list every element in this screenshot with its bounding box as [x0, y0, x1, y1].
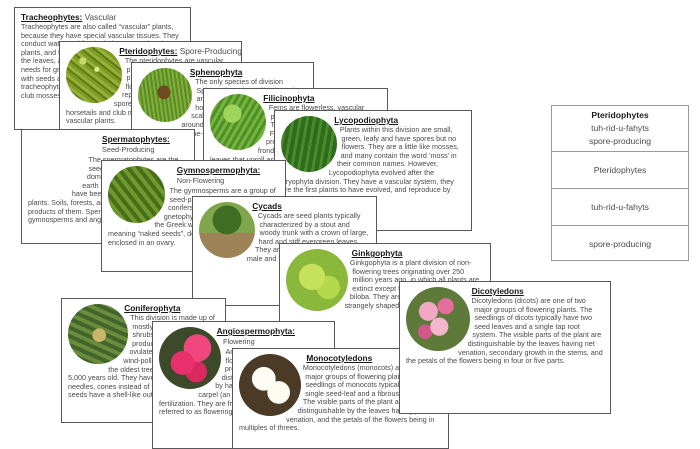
three-part-pronunciation-cell[interactable]: tuh-rid-u-fahyts — [552, 189, 688, 226]
plant-photo-seed-pod — [28, 135, 84, 191]
card-term: Lycopodiophyta — [334, 115, 398, 125]
card-term: Pteridophytes: — [119, 46, 177, 56]
card-term: Ginkgophyta — [352, 248, 403, 258]
plant-photo-lily — [239, 354, 301, 416]
plant-photo-blossoms — [406, 287, 470, 351]
card-title: Tracheophytes: Vascular — [21, 12, 185, 22]
plant-photo-roses — [159, 327, 221, 389]
plant-photo-conifer-cone — [68, 304, 128, 364]
card-term: Cycads — [252, 201, 282, 211]
card-term: Monocotyledons — [306, 353, 372, 363]
card-term: Tracheophytes: — [21, 12, 82, 22]
card-term: Gymnospermophyta: — [177, 165, 260, 175]
card-term: Angiospermophyta: — [217, 326, 295, 336]
plant-photo-moss — [66, 47, 122, 103]
plant-photo-ginkgo — [286, 249, 348, 311]
card-term: Sphenophyta — [190, 67, 243, 77]
plant-photo-fern — [210, 94, 266, 150]
three-part-definition-cell[interactable]: spore-producing — [552, 226, 688, 262]
plant-photo-club-moss — [281, 116, 337, 172]
card-sheet: Tracheophytes: Vascular Tracheophytes ar… — [0, 0, 700, 449]
card-term: Filicinophyta — [263, 93, 314, 103]
definition-strip-label: spore-producing — [589, 238, 651, 251]
card-term: Spermatophytes: — [102, 134, 170, 144]
pronunciation-label: tuh-rid-u-fahyts — [591, 122, 649, 135]
plant-photo-cycad — [199, 202, 255, 258]
three-part-header-cell: Pteridophytes tuh-rid-u-fahyts spore-pro… — [552, 106, 688, 152]
card-subtitle: Spore-Producing — [180, 46, 242, 56]
card-term: Dicotyledons — [472, 286, 524, 296]
card-body: Dicotyledons Dicotyledons (dicots) are o… — [400, 282, 610, 413]
card-subtitle: Vascular — [85, 12, 117, 22]
term-label: Pteridophytes — [591, 109, 648, 122]
three-part-card-pteridophytes[interactable]: Pteridophytes tuh-rid-u-fahyts spore-pro… — [551, 105, 689, 261]
term-strip-label: Pteridophytes — [594, 164, 647, 177]
card-term: Coniferophyta — [124, 303, 180, 313]
plant-photo-horsetail — [138, 68, 192, 122]
plant-photo-cypress — [108, 166, 165, 223]
three-part-term-cell[interactable]: Pteridophytes — [552, 152, 688, 189]
card-dicotyledons[interactable]: Dicotyledons Dicotyledons (dicots) are o… — [399, 281, 611, 414]
pronunciation-strip-label: tuh-rid-u-fahyts — [591, 201, 649, 214]
definition-label: spore-producing — [589, 135, 651, 148]
